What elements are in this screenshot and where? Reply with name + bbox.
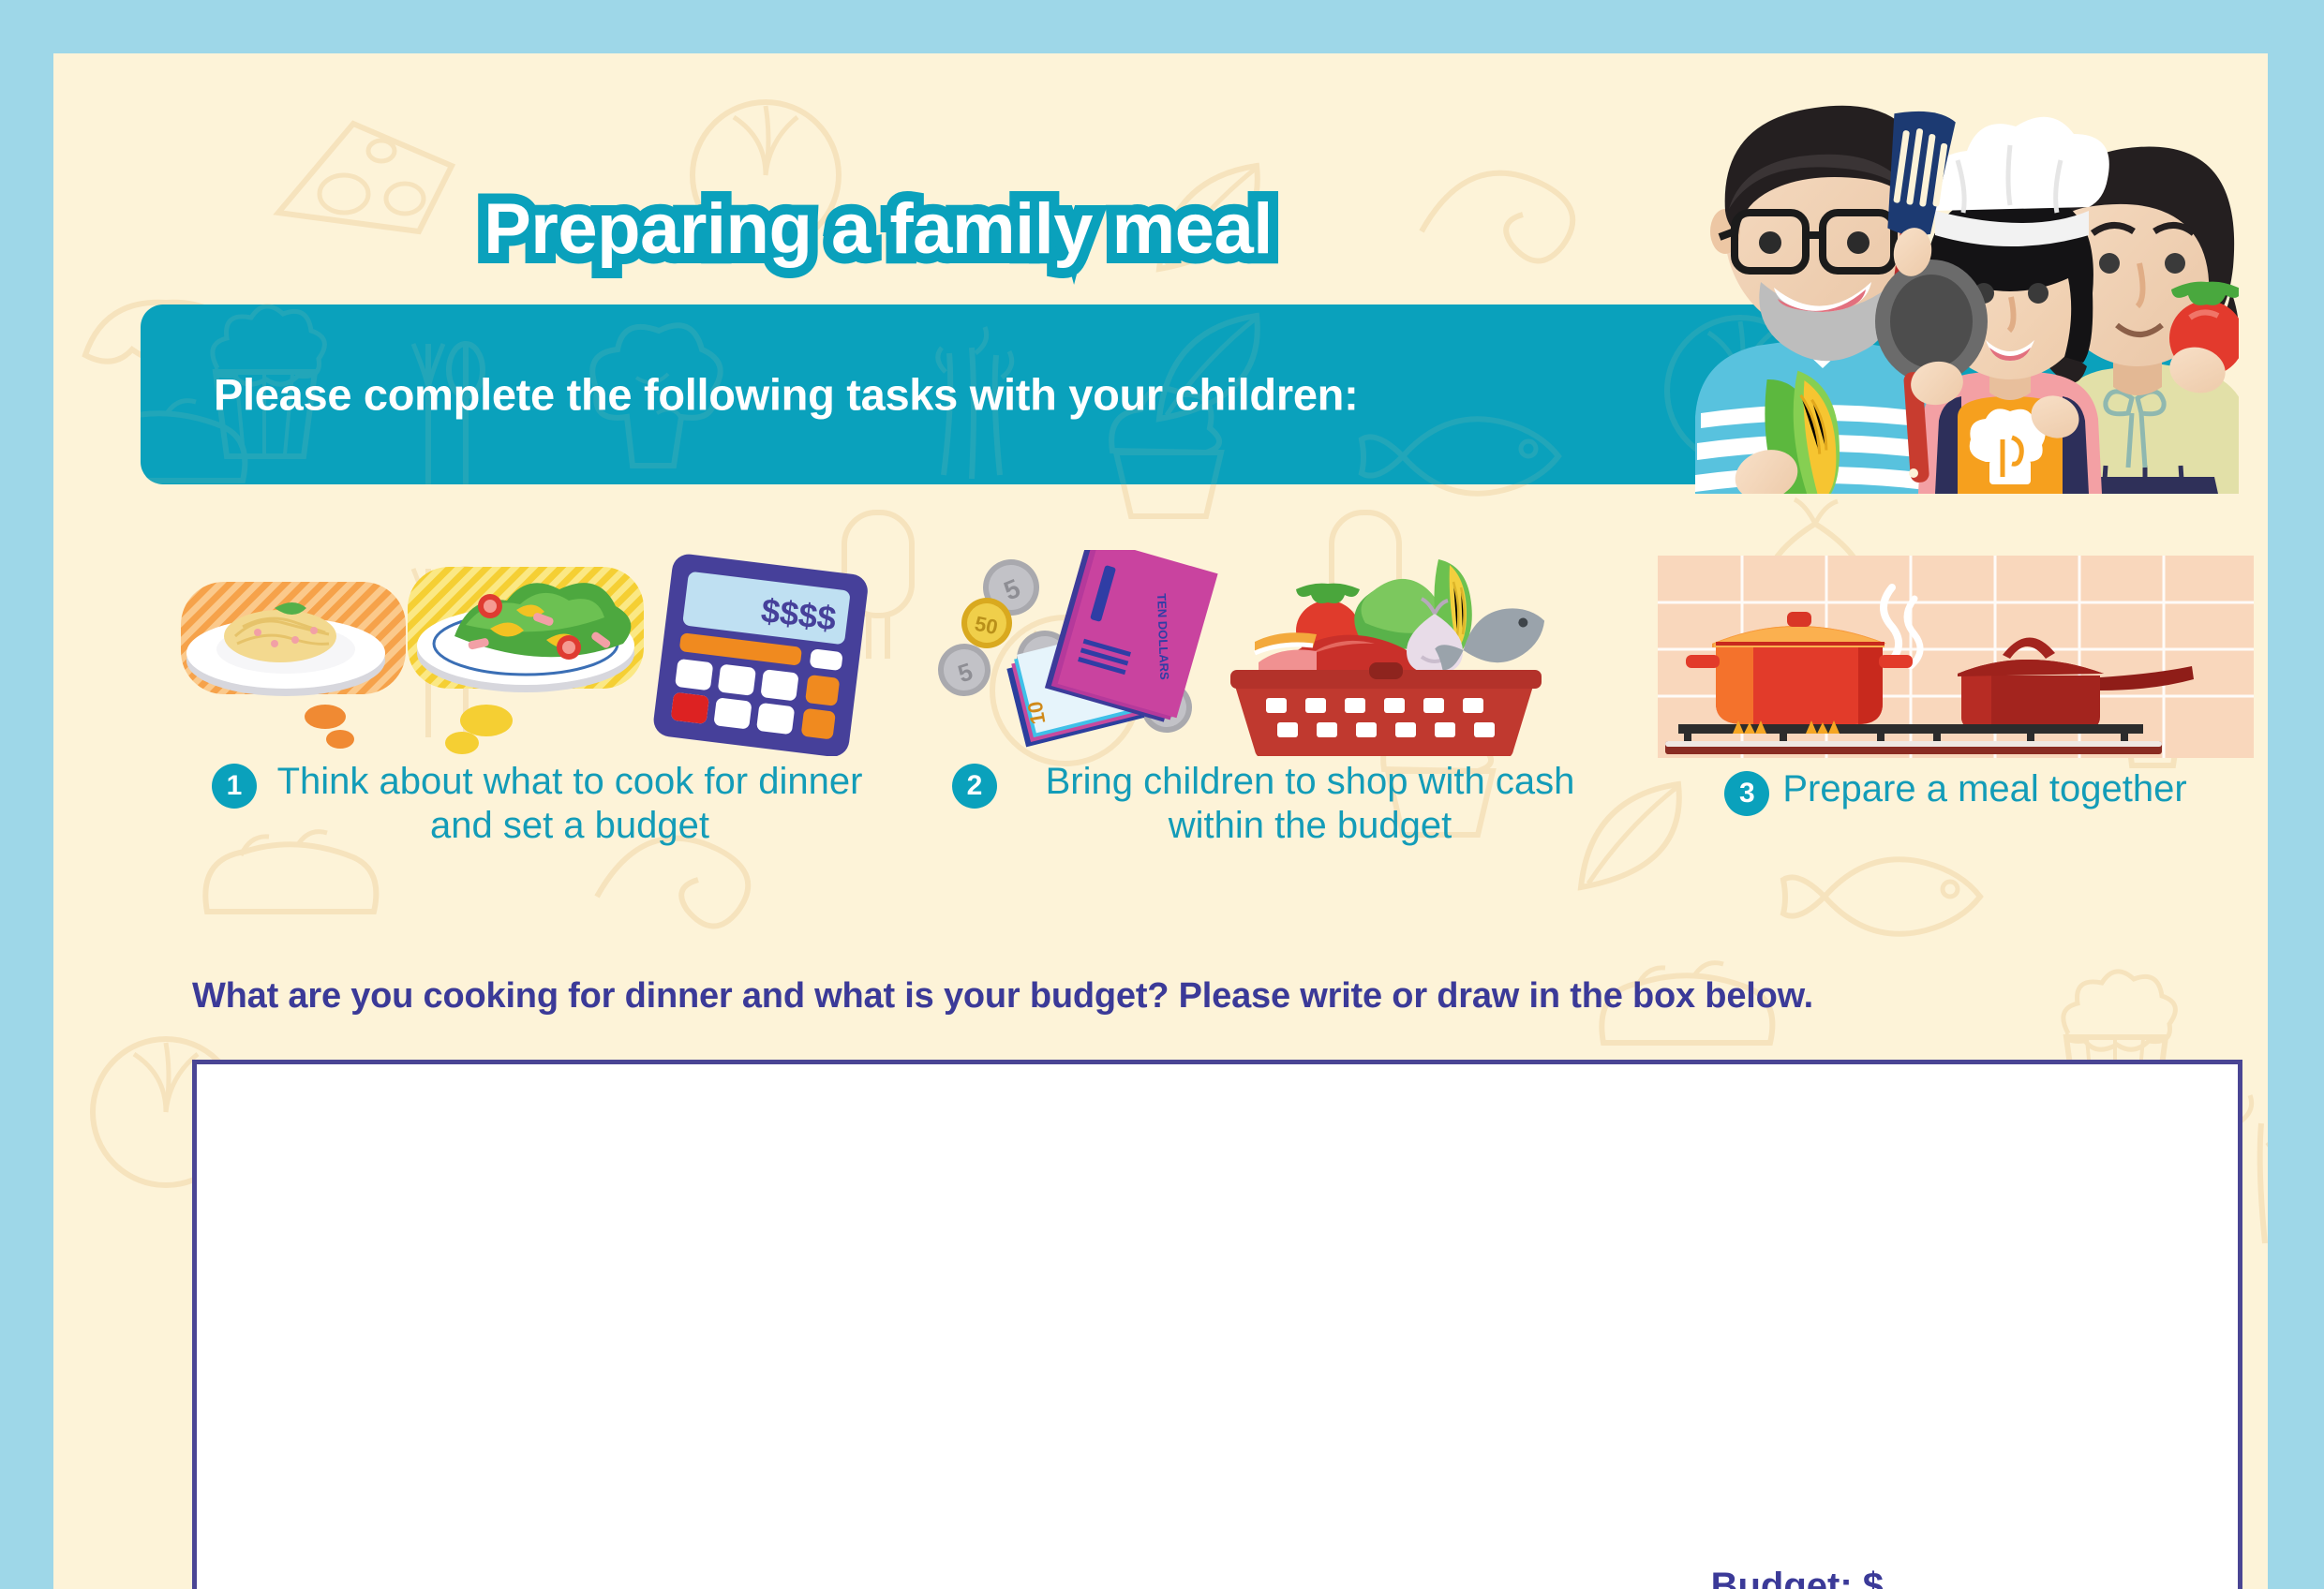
svg-text:10: 10 — [1023, 700, 1050, 726]
task-item-3: 3 Prepare a meal together — [1646, 550, 2265, 816]
svg-text:50: 50 — [973, 612, 1000, 640]
page-title-wrap: Preparing a family meal — [53, 194, 1703, 265]
task-number-2: 2 — [952, 764, 997, 809]
plates-of-food-and-calculator-icon: $$$$ — [156, 550, 925, 756]
task-label-3: Prepare a meal together — [1782, 767, 2186, 811]
budget-entry: Budget: $ — [1711, 1566, 2202, 1589]
task-item-2: 5 50 5 2 — [925, 550, 1637, 848]
task-item-1: $$$$ 1 — [156, 550, 925, 848]
task-number-1: 1 — [212, 764, 257, 809]
task-number-3: 3 — [1724, 771, 1769, 816]
page-title: Preparing a family meal — [484, 194, 1273, 265]
stove-with-pots-icon — [1646, 550, 2265, 764]
question-prompt: What are you cooking for dinner and what… — [192, 976, 1813, 1017]
family-characters-illustration — [1676, 70, 2239, 494]
task-label-1: Think about what to cook for dinner and … — [270, 760, 870, 848]
task-label-2: Bring children to shop with cash within … — [1010, 760, 1610, 848]
answer-drawing-box[interactable]: Budget: $ — [192, 1060, 2242, 1589]
banner-instruction-text: Please complete the following tasks with… — [214, 369, 1358, 421]
worksheet-page: Preparing a family meal Please complete … — [53, 53, 2268, 1589]
budget-label: Budget: $ — [1711, 1566, 1884, 1589]
cash-and-grocery-basket-icon: 5 50 5 2 — [925, 550, 1637, 756]
